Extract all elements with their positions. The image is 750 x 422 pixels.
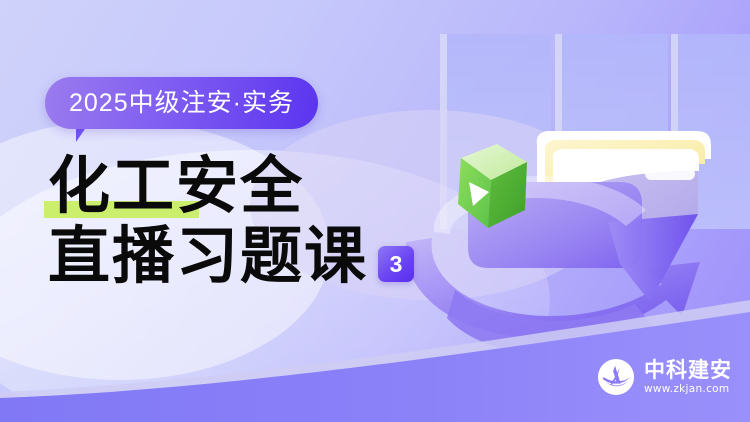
- eyebrow-badge-label: 2025中级注安·实务: [69, 91, 294, 116]
- zkjan-circle-logo-icon: [597, 358, 635, 396]
- episode-number-badge: 3: [378, 246, 414, 282]
- eyebrow-badge: 2025中级注安·实务: [45, 77, 318, 129]
- brand-logo: 中科建安 www.zkjan.com: [597, 358, 732, 396]
- headline-line1: 化工安全: [48, 152, 304, 222]
- brand-text-lockup: 中科建安 www.zkjan.com: [644, 359, 732, 396]
- brand-url: www.zkjan.com: [644, 383, 732, 396]
- headline-line2: 直播习题课: [48, 222, 368, 292]
- episode-number-label: 3: [390, 253, 403, 276]
- headline-line1-row: 化工安全: [48, 152, 414, 222]
- brand-name: 中科建安: [644, 359, 732, 383]
- headline-line2-row: 直播习题课 3: [48, 222, 414, 292]
- course-banner: 2025中级注安·实务 化工安全 直播习题课 3 中科建安 www.zkjan.…: [0, 0, 750, 422]
- headline-block: 化工安全 直播习题课 3: [48, 152, 414, 292]
